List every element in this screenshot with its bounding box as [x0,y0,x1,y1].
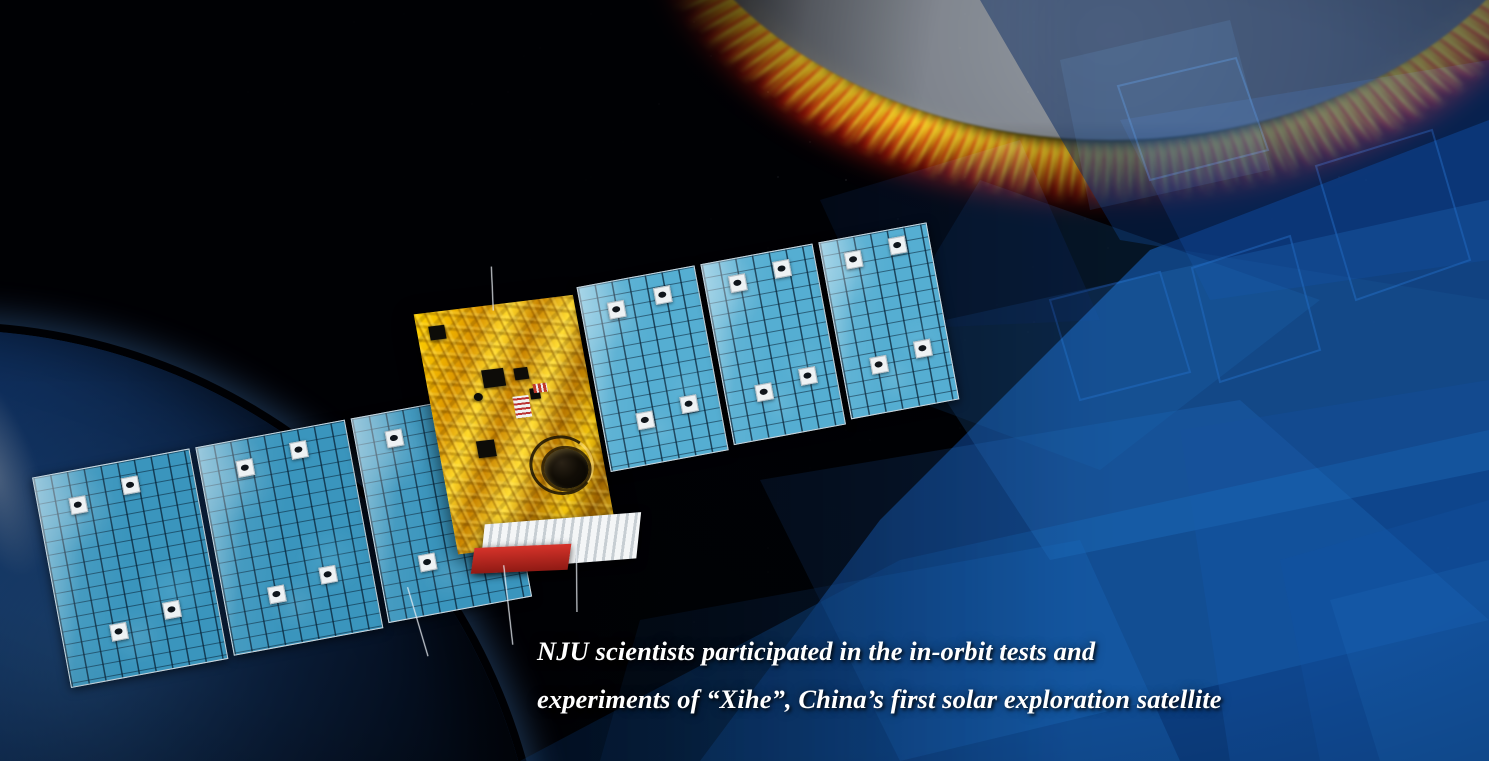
caption-line-1: NJU scientists participated in the in-or… [537,627,1437,675]
caption-block: NJU scientists participated in the in-or… [537,627,1437,723]
photo-banner: NJU scientists participated in the in-or… [0,0,1489,761]
caption-line-2: experiments of “Xihe”, China’s first sol… [537,675,1437,723]
